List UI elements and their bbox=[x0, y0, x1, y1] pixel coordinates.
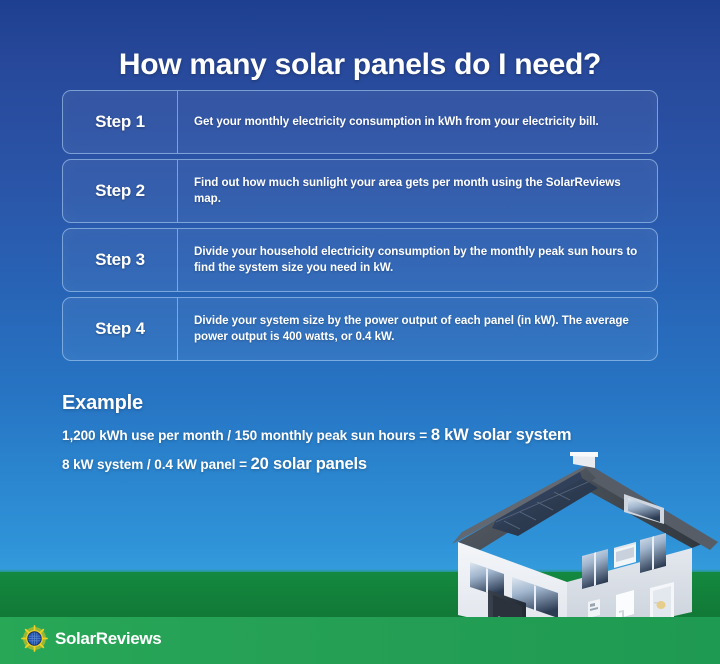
step-label: Step 1 bbox=[63, 91, 178, 153]
page-title: How many solar panels do I need? bbox=[0, 48, 720, 82]
example-line-2-lead: 8 kW system / 0.4 kW panel = bbox=[62, 457, 251, 472]
solarreviews-logo[interactable]: SolarReviews bbox=[21, 625, 161, 652]
example-line-1-result: 8 kW solar system bbox=[431, 426, 572, 444]
step-description: Divide your system size by the power out… bbox=[178, 298, 657, 360]
step-row: Step 4 Divide your system size by the po… bbox=[62, 297, 658, 361]
example-heading: Example bbox=[62, 392, 143, 415]
electric-meter bbox=[588, 599, 600, 618]
chimney bbox=[570, 452, 598, 468]
step-row: Step 1 Get your monthly electricity cons… bbox=[62, 90, 658, 154]
example-line-1: 1,200 kWh use per month / 150 monthly pe… bbox=[62, 426, 571, 445]
example-line-2: 8 kW system / 0.4 kW panel = 20 solar pa… bbox=[62, 455, 367, 474]
step-label: Step 4 bbox=[63, 298, 178, 360]
steps-list: Step 1 Get your monthly electricity cons… bbox=[62, 90, 658, 366]
example-line-2-result: 20 solar panels bbox=[251, 455, 367, 473]
step-row: Step 2 Find out how much sunlight your a… bbox=[62, 159, 658, 223]
example-line-1-lead: 1,200 kWh use per month / 150 monthly pe… bbox=[62, 428, 431, 443]
logo-wordmark: SolarReviews bbox=[55, 629, 161, 649]
step-description: Find out how much sunlight your area get… bbox=[178, 160, 657, 222]
step-row: Step 3 Divide your household electricity… bbox=[62, 228, 658, 292]
infographic-canvas: How many solar panels do I need? Step 1 … bbox=[0, 0, 720, 664]
solar-sun-icon bbox=[21, 625, 48, 652]
step-description: Divide your household electricity consum… bbox=[178, 229, 657, 291]
step-description: Get your monthly electricity consumption… bbox=[178, 91, 657, 153]
step-label: Step 2 bbox=[63, 160, 178, 222]
step-label: Step 3 bbox=[63, 229, 178, 291]
